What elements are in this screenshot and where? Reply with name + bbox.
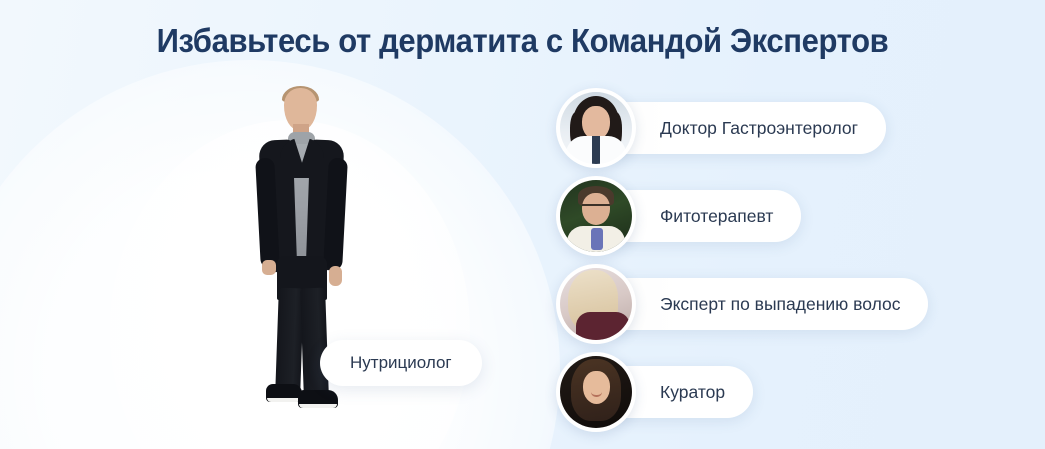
avatar-curator bbox=[556, 352, 636, 432]
expert-label: Фитотерапевт bbox=[660, 206, 773, 227]
expert-label: Куратор bbox=[660, 382, 725, 403]
avatar-phytotherapist bbox=[556, 176, 636, 256]
promo-banner: Избавьтесь от дерматита с Командой Экспе… bbox=[0, 0, 1045, 449]
person-hand-left bbox=[262, 260, 276, 275]
expert-label: Доктор Гастроэнтеролог bbox=[660, 118, 858, 139]
expert-pill-gastroenterologist[interactable]: Доктор Гастроэнтеролог bbox=[598, 102, 886, 154]
avatar-hair-loss-expert bbox=[556, 264, 636, 344]
nutritionist-role-pill[interactable]: Нутрициолог bbox=[320, 340, 482, 386]
nutritionist-role-label: Нутрициолог bbox=[350, 353, 452, 373]
avatar-gastroenterologist bbox=[556, 88, 636, 168]
person-shoe-left bbox=[266, 384, 302, 402]
person-leg-left bbox=[275, 288, 304, 397]
person-shoe-right bbox=[298, 390, 338, 408]
list-item[interactable]: Куратор bbox=[556, 352, 976, 440]
experts-list: Доктор Гастроэнтеролог Фитотерапевт bbox=[556, 88, 976, 440]
page-title: Избавьтесь от дерматита с Командой Экспе… bbox=[31, 22, 1013, 60]
list-item[interactable]: Фитотерапевт bbox=[556, 176, 976, 264]
list-item[interactable]: Эксперт по выпадению волос bbox=[556, 264, 976, 352]
person-leg-right bbox=[300, 288, 329, 399]
expert-label: Эксперт по выпадению волос bbox=[660, 294, 900, 315]
person-hand-right bbox=[329, 266, 342, 286]
expert-pill-hair-loss-expert[interactable]: Эксперт по выпадению волос bbox=[598, 278, 928, 330]
list-item[interactable]: Доктор Гастроэнтеролог bbox=[556, 88, 976, 176]
